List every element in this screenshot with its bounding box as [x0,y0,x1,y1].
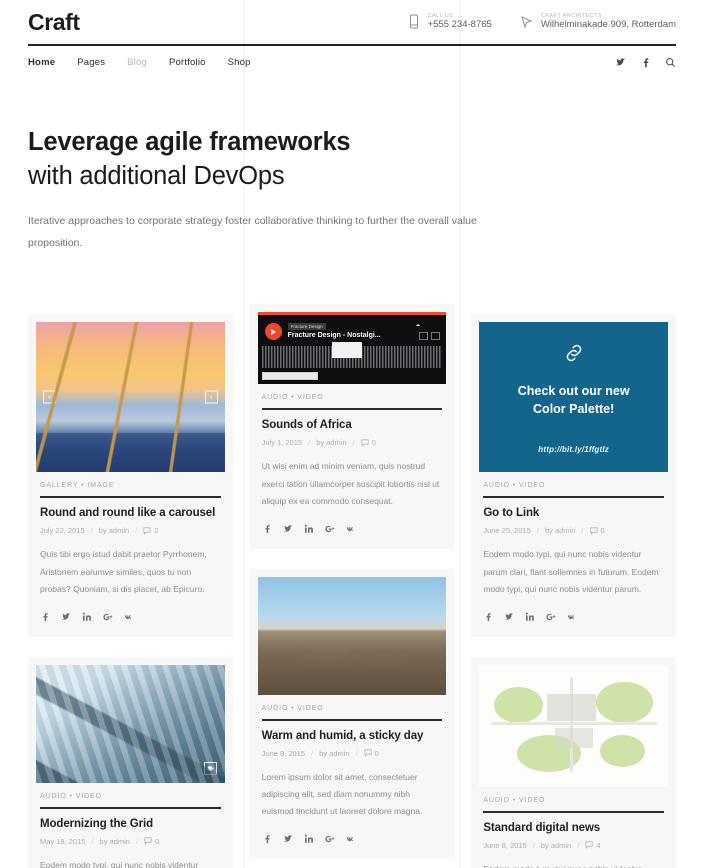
waveform-highlight [332,342,363,358]
page-root: Craft Call Us +555 234-8765 [0,0,704,868]
play-button-icon[interactable] [265,323,282,340]
post-comments[interactable]: 4 [585,841,600,850]
video-caption-bar [262,372,318,380]
post-author[interactable]: by admin [541,841,571,850]
post-author[interactable]: by admin [319,749,349,758]
post-meta: May 18, 2015 / by admin / 0 [40,837,221,846]
googleplus-icon[interactable] [325,834,335,845]
post-title[interactable]: Standard digital news [483,822,664,834]
post-excerpt: Quis tibi ergo istud dabit praetor Pyrrh… [40,546,221,598]
map-city-block [555,728,593,748]
post-categories[interactable]: AUDIO • VIDEO [262,705,443,712]
video-channel-label: Fracture Design [288,323,326,330]
googleplus-icon[interactable] [103,612,113,623]
post-categories[interactable]: GALLERY • IMAGE [40,482,221,489]
hero-title-line-2: with additional DevOps [28,162,284,190]
post-excerpt: Eodem modo typi, qui nunc nobis videntur… [483,861,664,868]
vk-icon[interactable] [346,834,356,845]
main-nav-wrapper: Home Pages Blog Portfolio Shop [28,44,676,78]
divider [483,811,664,813]
post-date: June 25, 2015 [483,526,531,535]
location-icon [520,14,534,30]
hero-title-line-1: Leverage agile frameworks [28,126,676,160]
post-comment-count: 2 [154,526,158,535]
divider [483,496,664,498]
link-card-heading-line-1: Check out our new [518,384,630,398]
nav-item-shop[interactable]: Shop [228,57,273,68]
facebook-icon[interactable] [640,57,651,68]
post-card-sounds-of-africa[interactable]: Fracture Design Fracture Design - Nostal… [250,304,455,548]
post-title[interactable]: Go to Link [483,507,664,519]
map-background [479,665,668,787]
search-icon[interactable] [665,57,676,68]
phone-icon [407,14,421,30]
meta-separator: / [356,749,358,758]
post-comments[interactable]: 0 [590,526,605,535]
post-title[interactable]: Modernizing the Grid [40,818,221,830]
post-comments[interactable]: 2 [143,526,158,535]
comment-icon [585,841,593,849]
post-card-modernizing-the-grid[interactable]: AUDIO • VIDEO Modernizing the Grid May 1… [28,657,233,868]
nav-item-blog[interactable]: Blog [127,57,169,68]
post-meta: June 8, 2015 / by admin / 0 [262,749,443,758]
comment-icon [361,439,369,447]
video-format-badge-icon [204,762,217,775]
post-comment-count: 0 [372,438,376,447]
post-meta: July 22, 2015 / by admin / 2 [40,526,221,535]
twitter-icon[interactable] [615,57,626,68]
share-bar [40,612,221,623]
post-comment-count: 0 [375,749,379,758]
vk-icon[interactable] [124,612,134,623]
post-thumbnail-map-illustration[interactable] [479,665,668,787]
main-nav: Home Pages Blog Portfolio Shop [28,46,676,78]
divider [40,496,221,498]
map-park-area [596,682,653,723]
map-road [570,677,573,772]
divider [262,408,443,410]
twitter-icon[interactable] [61,612,71,623]
twitter-icon[interactable] [504,612,514,623]
facebook-icon[interactable] [262,834,272,845]
post-meta: June 8, 2015 / by admin / 4 [483,841,664,850]
meta-separator: / [533,841,535,850]
meta-separator: / [91,837,93,846]
post-thumbnail-cranes[interactable]: ‹ › [36,322,225,472]
comment-icon [144,837,152,845]
expand-button-icon[interactable] [431,332,440,340]
gallery-prev-arrow-icon[interactable]: ‹ [43,391,56,404]
meta-separator: / [308,438,310,447]
post-comment-count: 0 [601,526,605,535]
vk-icon[interactable] [346,524,356,535]
facebook-icon[interactable] [483,612,493,623]
map-city-block [547,694,596,721]
post-categories[interactable]: AUDIO • VIDEO [483,797,664,804]
nav-icons [615,57,676,68]
twitter-icon[interactable] [283,524,293,535]
share-button-icon[interactable] [419,332,428,340]
post-categories[interactable]: AUDIO • VIDEO [483,482,664,489]
comment-icon [364,749,372,757]
post-card-warm-and-humid[interactable]: AUDIO • VIDEO Warm and humid, a sticky d… [250,569,455,859]
video-title: Fracture Design - Nostalgi... [288,332,381,339]
post-date: July 22, 2015 [40,526,85,535]
meta-separator: / [135,526,137,535]
link-promo-card[interactable]: Check out our new Color Palette! http://… [479,322,668,472]
post-title[interactable]: Sounds of Africa [262,419,443,431]
post-comments[interactable]: 0 [144,837,159,846]
post-thumbnail-video-player[interactable]: Fracture Design Fracture Design - Nostal… [258,312,447,384]
contact-phone[interactable]: Call Us +555 234-8765 [407,13,492,31]
divider [40,807,221,809]
post-categories[interactable]: AUDIO • VIDEO [262,394,443,401]
post-meta: June 25, 2015 / by admin / 0 [483,526,664,535]
meta-separator: / [577,841,579,850]
linkedin-icon[interactable] [304,834,314,845]
comment-icon [590,527,598,535]
post-author[interactable]: by admin [99,526,129,535]
facebook-icon[interactable] [262,524,272,535]
link-icon [563,342,585,369]
twitter-icon[interactable] [283,834,293,845]
post-excerpt: Eodem modo typi, qui nunc nobis videntur… [483,546,664,598]
post-thumbnail-glass-building[interactable] [36,665,225,783]
share-bar [262,834,443,845]
post-card-round-and-round[interactable]: ‹ › GALLERY • IMAGE Round and round like… [28,314,233,636]
post-author[interactable]: by admin [316,438,346,447]
linkedin-icon[interactable] [82,612,92,623]
blog-grid: ‹ › GALLERY • IMAGE Round and round like… [28,314,676,868]
hero-subtitle: Iterative approaches to corporate strate… [28,211,518,254]
post-date: May 18, 2015 [40,837,85,846]
facebook-icon[interactable] [40,612,50,623]
hero-section: Leverage agile frameworks with additiona… [0,78,704,254]
nav-item-portfolio[interactable]: Portfolio [169,57,228,68]
post-meta: July 1, 2015 / by admin / 0 [262,438,443,447]
post-card-go-to-link[interactable]: Check out our new Color Palette! http://… [471,314,676,636]
grid-column-3: Check out our new Color Palette! http://… [471,314,676,868]
post-author[interactable]: by admin [100,837,130,846]
post-date: July 1, 2015 [262,438,302,447]
contact-address-value: Wilhelminakade 909, Rotterdam [541,20,676,31]
comment-icon [143,527,151,535]
post-title[interactable]: Round and round like a carousel [40,507,221,519]
grid-column-2: Fracture Design Fracture Design - Nostal… [250,304,455,859]
contact-address[interactable]: Craft Architects Wilhelminakade 909, Rot… [520,13,676,31]
grid-column-1: ‹ › GALLERY • IMAGE Round and round like… [28,314,233,868]
post-card-standard-digital-news[interactable]: AUDIO • VIDEO Standard digital news June… [471,657,676,868]
post-excerpt: Eodem modo typi, qui nunc nobis videntur… [40,857,221,868]
contact-info-group: Call Us +555 234-8765 Craft Architects W… [407,13,676,31]
post-comments[interactable]: 0 [364,749,379,758]
share-bar [262,524,443,535]
post-comment-count: 0 [155,837,159,846]
meta-separator: / [581,526,583,535]
post-comments[interactable]: 0 [361,438,376,447]
post-categories[interactable]: AUDIO • VIDEO [40,793,221,800]
post-excerpt: Ut wisi enim ad minim veniam, quis nostr… [262,458,443,510]
linkedin-icon[interactable] [304,524,314,535]
nav-menu: Home Pages Blog Portfolio Shop [28,57,273,68]
post-date: June 8, 2015 [483,841,526,850]
site-logo[interactable]: Craft [28,9,80,36]
soundcloud-icon: ☁ [415,322,420,328]
googleplus-icon[interactable] [325,524,335,535]
post-thumbnail-desert-ruins[interactable] [258,577,447,695]
post-title[interactable]: Warm and humid, a sticky day [262,730,443,742]
googleplus-icon[interactable] [546,612,556,623]
nav-item-pages[interactable]: Pages [77,57,127,68]
gallery-next-arrow-icon[interactable]: › [205,391,218,404]
divider [262,719,443,721]
contact-phone-value: +555 234-8765 [428,20,492,31]
post-comment-count: 4 [596,841,600,850]
video-controls[interactable] [419,332,440,340]
meta-separator: / [136,837,138,846]
nav-item-home[interactable]: Home [28,57,77,68]
post-author[interactable]: by admin [545,526,575,535]
meta-separator: / [91,526,93,535]
page-title: Leverage agile frameworks with additiona… [28,126,676,193]
meta-separator: / [311,749,313,758]
link-card-heading-line-2: Color Palette! [533,402,614,416]
map-road [491,722,657,725]
linkedin-icon[interactable] [525,612,535,623]
video-progress-bar[interactable] [258,312,447,315]
link-card-url[interactable]: http://bit.ly/1ffgtIz [538,445,609,454]
top-bar: Craft Call Us +555 234-8765 [0,0,704,44]
post-date: June 8, 2015 [262,749,305,758]
share-bar [483,612,664,623]
meta-separator: / [537,526,539,535]
vk-icon[interactable] [567,612,577,623]
meta-separator: / [353,438,355,447]
link-card-heading: Check out our new Color Palette! [518,382,630,418]
post-excerpt: Lorem ipsum dolor sit amet, consectetuer… [262,769,443,821]
